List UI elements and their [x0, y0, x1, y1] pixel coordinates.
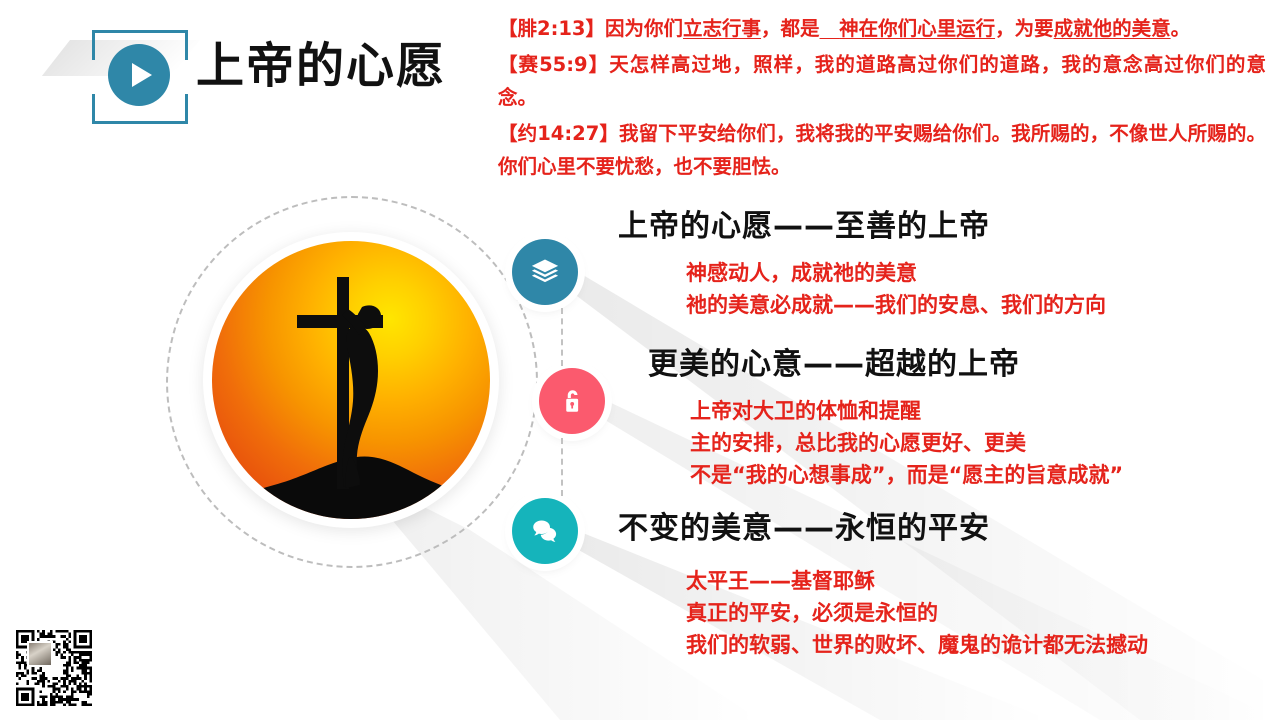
section-line: 神感动人，成就祂的美意 [686, 258, 1106, 290]
scripture-segment: 神在你们心里运行 [839, 17, 995, 40]
section-line: 上帝对大卫的体恤和提醒 [690, 396, 1123, 428]
section-line: 我们的软弱、世界的败坏、魔鬼的诡计都无法撼动 [686, 630, 1148, 662]
section-body-2: 上帝对大卫的体恤和提醒 主的安排，总比我的心愿更好、更美 不是“我的心想事成”，… [690, 396, 1123, 492]
scripture-segment [820, 17, 840, 40]
section-icon-chat[interactable] [512, 498, 578, 564]
scripture-verse-3: 【约14:27】我留下平安给你们，我将我的平安赐给你们。我所赐的，不像世人所赐的… [498, 117, 1266, 184]
badge-connector-1 [561, 308, 563, 366]
section-line: 太平王——基督耶稣 [686, 566, 1148, 598]
scripture-segment: 立志行事 [683, 17, 761, 40]
slide-canvas: 上帝的心愿 【腓2:13】因为你们立志行事，都是 神在你们心里运行，为要成就他的… [0, 0, 1280, 720]
qr-code-center-logo [27, 641, 53, 667]
scripture-segment: 【约14:27】我留下平安给你们，我将我的平安赐给你们。我所赐的，不像世人所赐的… [498, 122, 1266, 179]
layers-icon [530, 257, 560, 287]
scripture-verse-2: 【赛55:9】天怎样高过地，照样，我的道路高过你们的道路，我的意念高过你们的意念… [498, 48, 1266, 115]
page-title: 上帝的心愿 [196, 42, 446, 90]
scripture-segment: ，都是 [761, 17, 820, 40]
section-icon-layers[interactable] [512, 239, 578, 305]
brand-logo[interactable] [92, 30, 188, 124]
scripture-segment: 【腓2:13】因为你们 [498, 17, 683, 40]
unlock-icon [557, 386, 587, 416]
section-line: 祂的美意必成就——我们的安息、我们的方向 [686, 290, 1106, 322]
section-icon-unlock[interactable] [539, 368, 605, 434]
section-heading-1: 上帝的心愿——至善的上帝 [618, 212, 990, 242]
scripture-segment: 。 [1171, 17, 1191, 40]
badge-connector-2 [561, 438, 563, 496]
scripture-segment: ，为要 [995, 17, 1054, 40]
section-heading-3: 不变的美意——永恒的平安 [618, 514, 990, 544]
section-line: 真正的平安，必须是永恒的 [686, 598, 1148, 630]
cross-silhouette-icon [212, 241, 490, 519]
scripture-block: 【腓2:13】因为你们立志行事，都是 神在你们心里运行，为要成就他的美意。 【赛… [498, 12, 1266, 186]
scripture-verse-1: 【腓2:13】因为你们立志行事，都是 神在你们心里运行，为要成就他的美意。 [498, 12, 1266, 46]
section-heading-2: 更美的心意——超越的上帝 [648, 350, 1020, 380]
scripture-segment: 【赛55:9】天怎样高过地，照样，我的道路高过你们的道路，我的意念高过你们的意念… [498, 53, 1266, 110]
section-line: 主的安排，总比我的心愿更好、更美 [690, 428, 1123, 460]
section-line: 不是“我的心想事成”，而是“愿主的旨意成就” [690, 460, 1123, 492]
scripture-segment: 成就他的美意 [1054, 17, 1171, 40]
chat-bubbles-icon [530, 516, 560, 546]
play-button-icon[interactable] [108, 44, 170, 106]
section-body-3: 太平王——基督耶稣 真正的平安，必须是永恒的 我们的软弱、世界的败坏、魔鬼的诡计… [686, 566, 1148, 662]
hero-image-cross-sunset [212, 241, 490, 519]
section-body-1: 神感动人，成就祂的美意 祂的美意必成就——我们的安息、我们的方向 [686, 258, 1106, 322]
